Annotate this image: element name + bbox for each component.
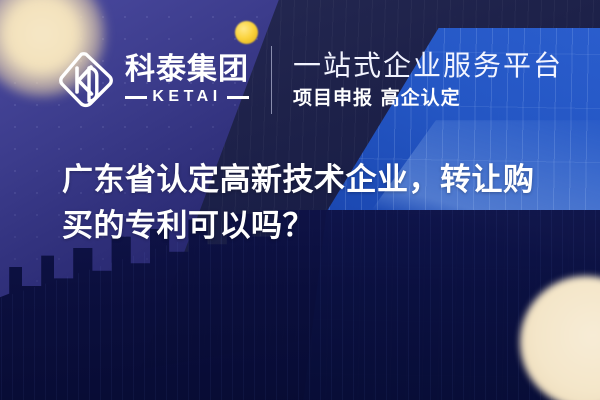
brand-name-en-row: KETAI bbox=[125, 89, 249, 105]
brand-name-en: KETAI bbox=[152, 89, 221, 105]
banner-header: 科泰集团 KETAI 一站式企业服务平台 项目申报 高企认定 bbox=[0, 38, 600, 122]
brand-logo-text: 科泰集团 KETAI bbox=[125, 55, 249, 105]
slogan-main: 一站式企业服务平台 bbox=[293, 50, 563, 82]
logo-rule-left bbox=[125, 96, 147, 99]
brand-logo[interactable]: 科泰集团 KETAI bbox=[58, 51, 249, 109]
brand-name-cn: 科泰集团 bbox=[125, 55, 249, 85]
header-divider bbox=[271, 46, 272, 114]
logo-rule-right bbox=[227, 96, 249, 99]
slogan-sub: 项目申报 高企认定 bbox=[293, 88, 563, 110]
promo-banner: 科泰集团 KETAI 一站式企业服务平台 项目申报 高企认定 广东省认定高新技术… bbox=[0, 0, 600, 400]
page-title: 广东省认定高新技术企业，转让购买的专利可以吗？ bbox=[62, 157, 554, 249]
ketai-diamond-monogram-icon bbox=[58, 51, 114, 109]
brand-slogan: 一站式企业服务平台 项目申报 高企认定 bbox=[293, 50, 563, 109]
